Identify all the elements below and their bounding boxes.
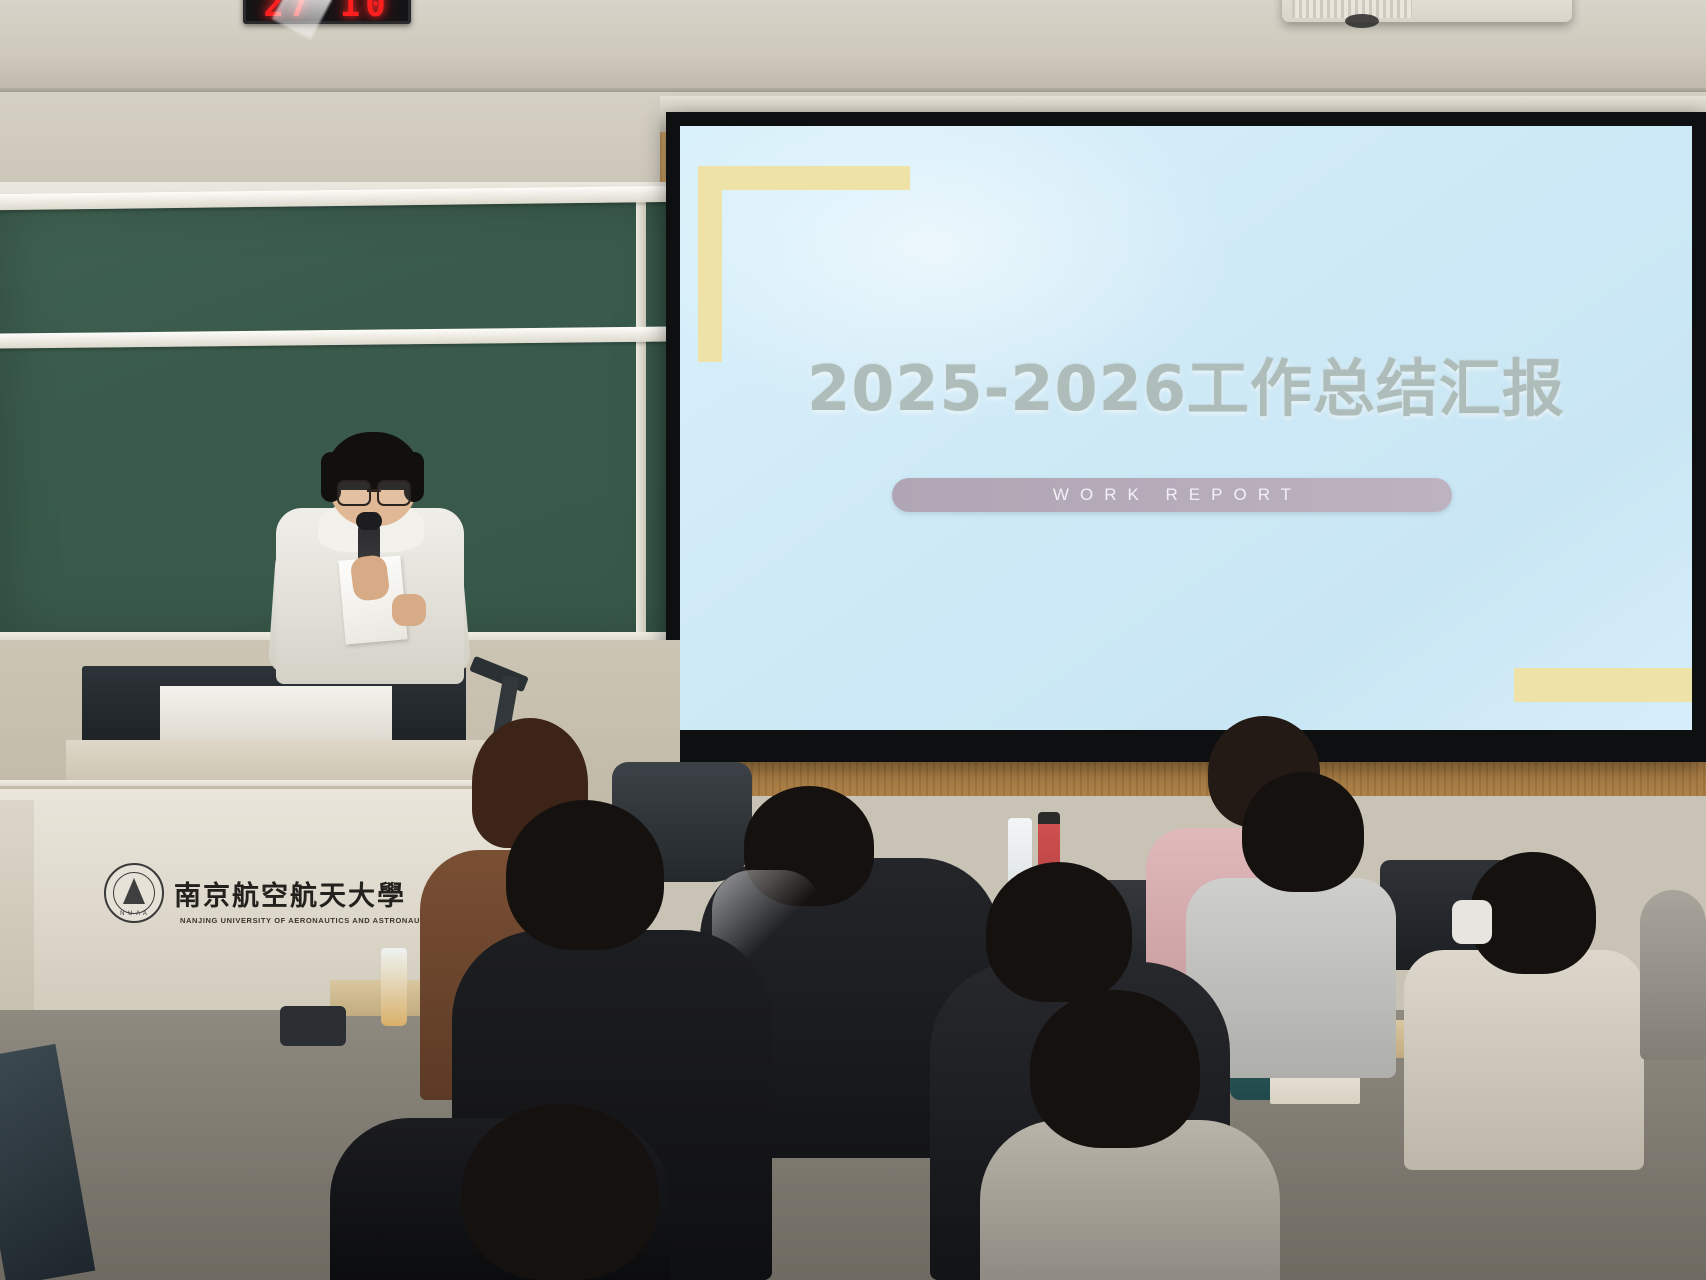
front-desk-side-panel: [0, 800, 34, 1010]
blackboard-divider: [636, 196, 646, 640]
student-head: [506, 800, 664, 950]
face-mask: [1452, 900, 1492, 944]
student-head: [1030, 990, 1200, 1148]
student-side-body: [1640, 890, 1706, 1060]
university-name-cn: 南京航空航天大學: [174, 874, 406, 913]
slide-title: 2025-2026工作总结汇报: [680, 338, 1692, 428]
student-camo-jacket-body: [1404, 950, 1644, 1170]
accent-bar-left: [698, 166, 722, 362]
glasses-lens-left: [337, 480, 371, 506]
podium-monitor: [160, 686, 392, 744]
seal-tree-icon: [123, 878, 145, 904]
projector-lens-icon: [1345, 14, 1379, 28]
speaker-hand-holding-mic: [349, 554, 390, 602]
university-name-en: NANJING UNIVERSITY OF AERONAUTICS AND AS…: [180, 916, 439, 925]
student-head: [462, 1104, 658, 1280]
student-head: [986, 862, 1132, 1002]
microphone-head: [356, 512, 382, 530]
glasses-lens-right: [377, 480, 411, 506]
seal-abbreviation: N U A A: [106, 911, 162, 917]
university-seal-icon: N U A A: [104, 863, 164, 923]
lecture-hall-photo: 27 10 EPSON 2025-2026工作总结汇报 WORK REPORT …: [0, 0, 1706, 1280]
presentation-slide: 2025-2026工作总结汇报 WORK REPORT: [680, 126, 1692, 730]
water-bottle: [381, 948, 407, 1026]
slide-subtitle: WORK REPORT: [892, 478, 1452, 512]
student-head: [1242, 772, 1364, 892]
slide-subtitle-bar: WORK REPORT: [892, 478, 1452, 512]
accent-bar-bottom-right: [1514, 668, 1692, 702]
chair-hardware: [280, 1006, 346, 1046]
glasses-icon: [337, 480, 411, 502]
accent-bar-top-left: [698, 166, 910, 190]
speaker-hand-holding-paper: [392, 594, 426, 626]
projection-screen: 2025-2026工作总结汇报 WORK REPORT: [680, 126, 1692, 730]
university-logo: N U A A 南京航空航天大學: [104, 862, 424, 924]
